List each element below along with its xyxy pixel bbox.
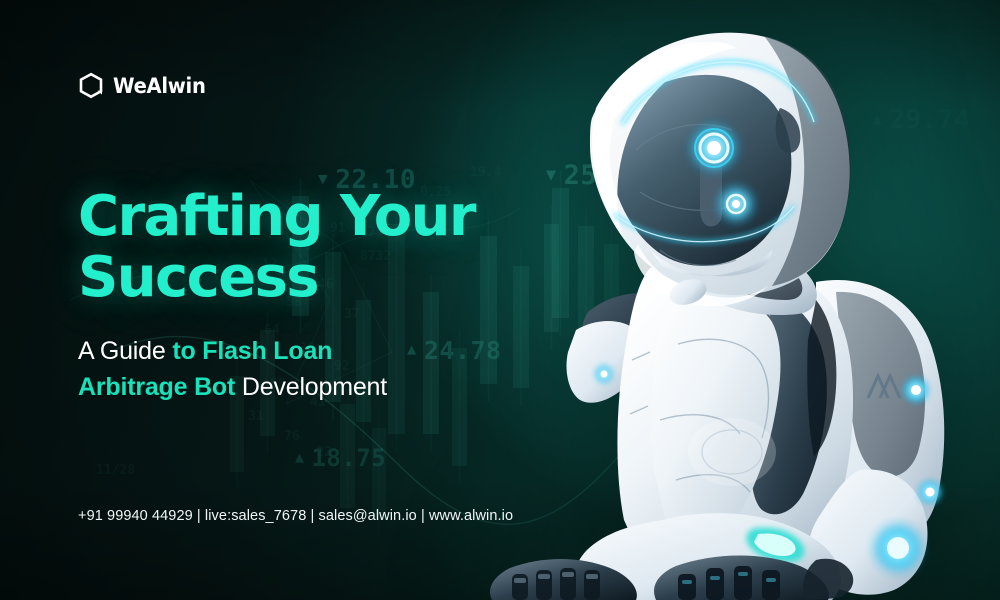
page-subtitle: A Guide to Flash Loan Arbitrage Bot Deve… (78, 334, 598, 405)
page-title: Crafting Your Success (78, 186, 598, 308)
subtitle-part-1: A Guide (78, 337, 172, 365)
robot-eye-secondary (716, 184, 756, 224)
robot-head (590, 33, 851, 310)
hero-banner: 2591 7312 4658 3764 1892 5541 11258732 1… (0, 0, 1000, 600)
contact-line[interactable]: +91 99940 44929 | live:sales_7678 | sale… (78, 508, 513, 524)
robot-eye-primary (688, 122, 740, 174)
headline-line-1: Crafting Your (78, 184, 475, 249)
hero-copy: Crafting Your Success A Guide to Flash L… (78, 186, 598, 405)
brand-wordmark: WeAlwin (113, 74, 206, 98)
hexagon-logo-icon (78, 72, 104, 100)
subtitle-part-2: Development (235, 373, 387, 401)
subtitle-highlight-2: Arbitrage Bot (78, 373, 235, 401)
subtitle-highlight-1: to Flash Loan (172, 337, 332, 365)
headline-line-2: Success (78, 247, 598, 308)
brand-logo[interactable]: WeAlwin (78, 72, 213, 100)
